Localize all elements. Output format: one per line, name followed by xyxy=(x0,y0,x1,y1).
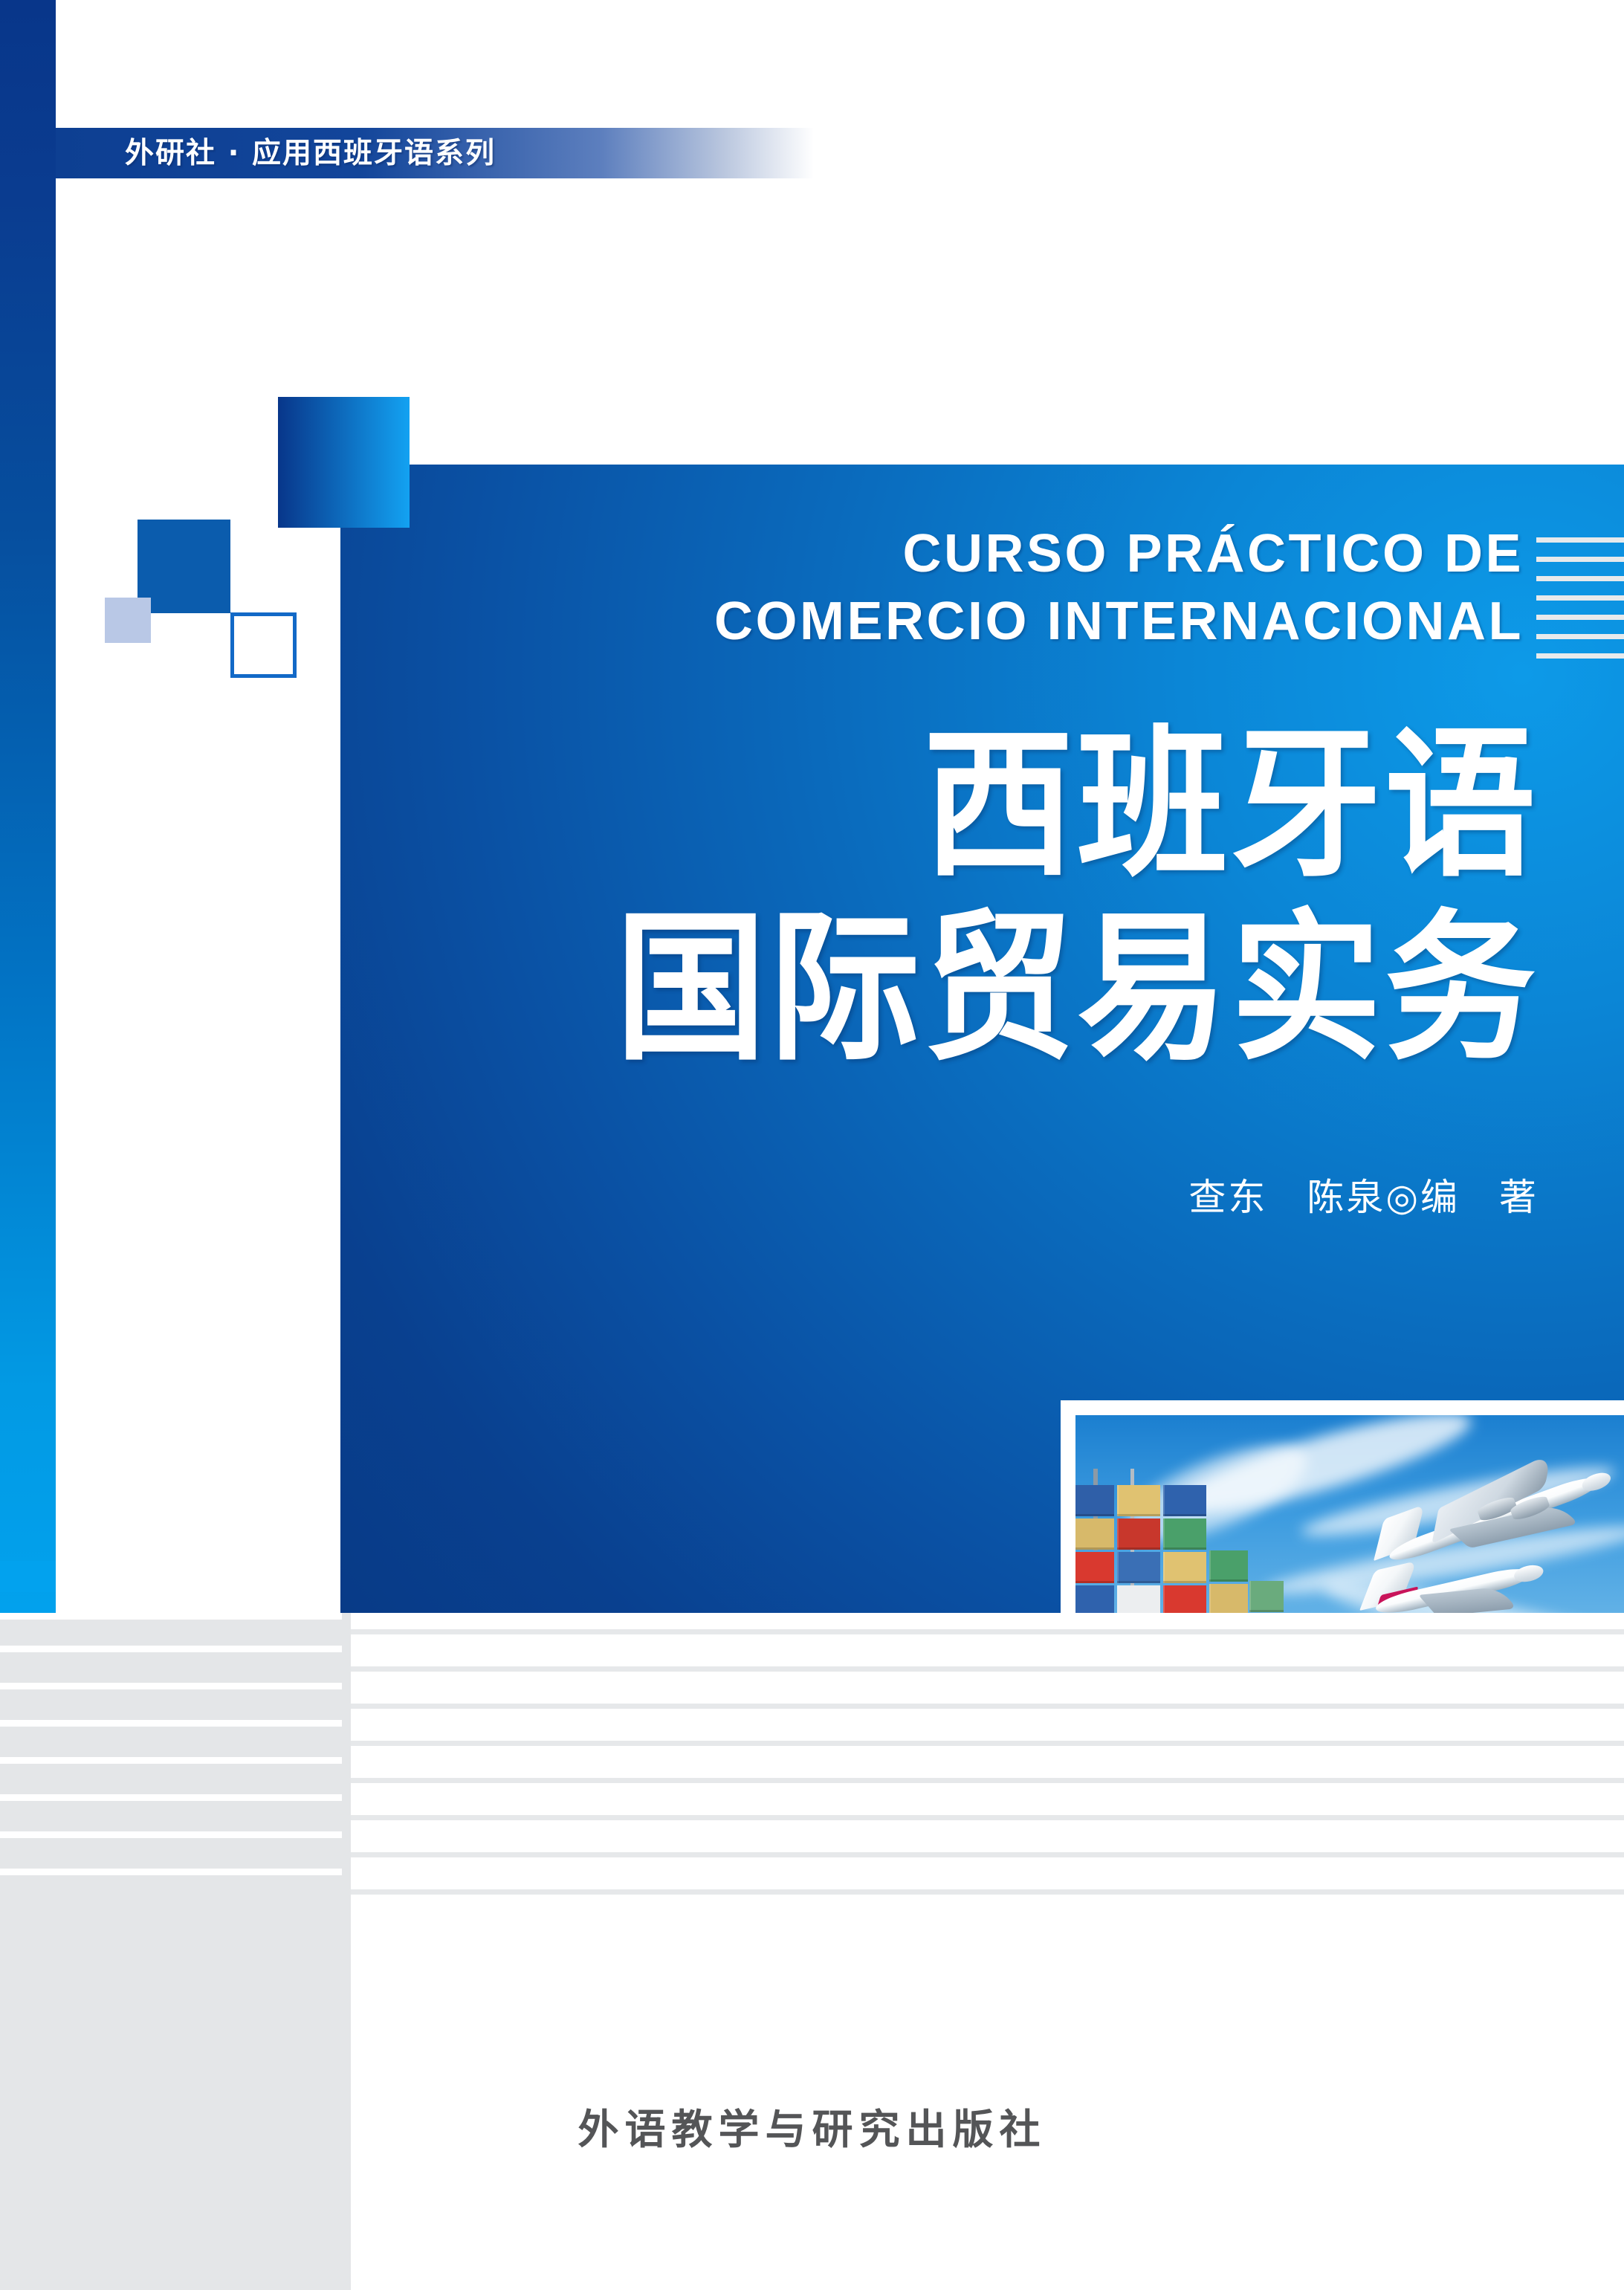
spanish-title-line-1: CURSO PRÁCTICO DE xyxy=(312,520,1524,588)
series-label: 外研社 · 应用西班牙语系列 xyxy=(125,132,496,175)
stripe-separator xyxy=(342,1741,1624,1746)
white-outline-square-decor xyxy=(230,612,297,678)
stripe-separator xyxy=(0,1831,342,1838)
shipping-container xyxy=(1209,1584,1248,1615)
author-line: 查东 陈泉◎编 著 xyxy=(654,1173,1539,1222)
shipping-container xyxy=(1075,1518,1114,1550)
stripe-separator xyxy=(342,1704,1624,1709)
decorative-line xyxy=(1536,557,1624,562)
decorative-line-stack xyxy=(1536,537,1624,671)
decorative-line xyxy=(1536,537,1624,543)
stripe-separator xyxy=(0,1613,342,1620)
shipping-container xyxy=(1209,1550,1248,1582)
shipping-container xyxy=(1117,1585,1160,1617)
bottom-stripe-divider xyxy=(342,1613,351,2290)
solid-blue-square-decor xyxy=(138,520,230,613)
shipping-container xyxy=(1163,1485,1206,1516)
stripe-separator xyxy=(342,1852,1624,1857)
shipping-container xyxy=(1117,1518,1160,1550)
left-gradient-bar xyxy=(0,0,56,1635)
stripe-separator xyxy=(342,1778,1624,1783)
shipping-container xyxy=(1249,1581,1284,1612)
decorative-line xyxy=(1536,595,1624,601)
pale-lavender-square-decor xyxy=(105,598,151,643)
decorative-line xyxy=(1536,634,1624,639)
stripe-separator xyxy=(342,1629,1624,1634)
chinese-title-line-2: 国际贸易实务 xyxy=(327,890,1539,1087)
bottom-stripes-left xyxy=(0,1613,342,2290)
stripe-separator xyxy=(0,1720,342,1727)
spanish-title: CURSO PRÁCTICO DE COMERCIO INTERNACIONAL xyxy=(312,520,1524,656)
bottom-stripes-right xyxy=(342,1613,1624,2290)
spanish-title-line-2: COMERCIO INTERNACIONAL xyxy=(312,588,1524,656)
stripe-separator xyxy=(0,1869,342,1875)
shipping-container xyxy=(1117,1552,1160,1583)
shipping-container xyxy=(1075,1552,1114,1583)
shipping-container xyxy=(1117,1485,1160,1516)
stripe-separator xyxy=(0,1794,342,1801)
stripe-separator xyxy=(342,1666,1624,1672)
decorative-line xyxy=(1536,576,1624,581)
shipping-container xyxy=(1075,1585,1114,1617)
book-cover: 外研社 · 应用西班牙语系列 CURSO PRÁCTICO DE COMERCI… xyxy=(0,0,1624,2290)
stripe-separator xyxy=(0,1646,342,1652)
stripe-separator xyxy=(0,1757,342,1764)
publisher-name: 外语教学与研究出版社 xyxy=(0,2096,1624,2155)
stripe-separator xyxy=(342,1815,1624,1820)
chinese-title: 西班牙语 国际贸易实务 xyxy=(327,714,1539,1081)
stripe-separator xyxy=(0,1683,342,1689)
decorative-line xyxy=(1536,653,1624,659)
chinese-title-line-1: 西班牙语 xyxy=(327,707,1539,903)
shipping-container xyxy=(1075,1485,1114,1516)
stripe-separator xyxy=(342,1889,1624,1895)
gradient-outline-square-decor xyxy=(278,397,410,528)
shipping-container xyxy=(1163,1552,1206,1583)
shipping-container xyxy=(1163,1518,1206,1550)
cyan-accent-chip xyxy=(0,1561,56,1592)
shipping-container xyxy=(1163,1585,1206,1617)
decorative-line xyxy=(1536,615,1624,620)
